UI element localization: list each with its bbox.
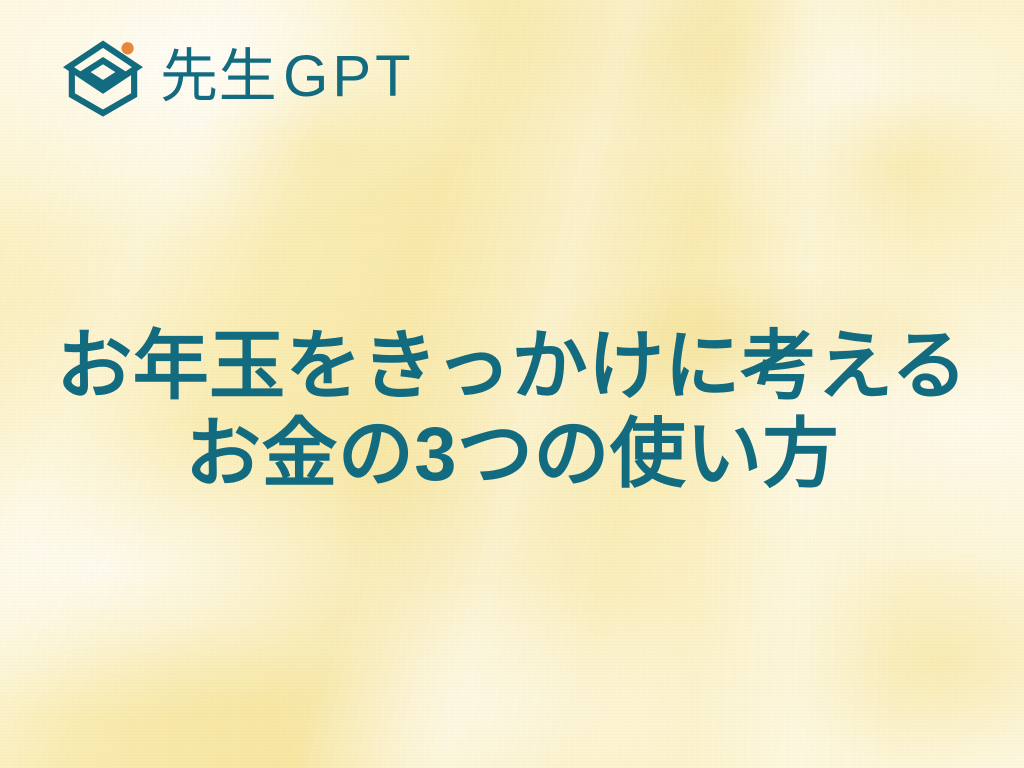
- slide-canvas: 先生 GPT お年玉をきっかけに考える お金の3つの使い方: [0, 0, 1024, 768]
- brand-wordmark: 先生 GPT: [160, 48, 415, 106]
- brand-wordmark-en: GPT: [283, 48, 414, 106]
- brand-lockup[interactable]: 先生 GPT: [62, 36, 415, 118]
- accent-dot-icon: [121, 42, 133, 54]
- brand-wordmark-jp: 先生: [160, 48, 277, 106]
- page-title-line-2: お金の3つの使い方: [18, 411, 1006, 499]
- page-title-line-1: お年玉をきっかけに考える: [18, 323, 1006, 411]
- page-title: お年玉をきっかけに考える お金の3つの使い方: [0, 323, 1024, 499]
- graduation-cap-box-logo-icon: [62, 36, 144, 118]
